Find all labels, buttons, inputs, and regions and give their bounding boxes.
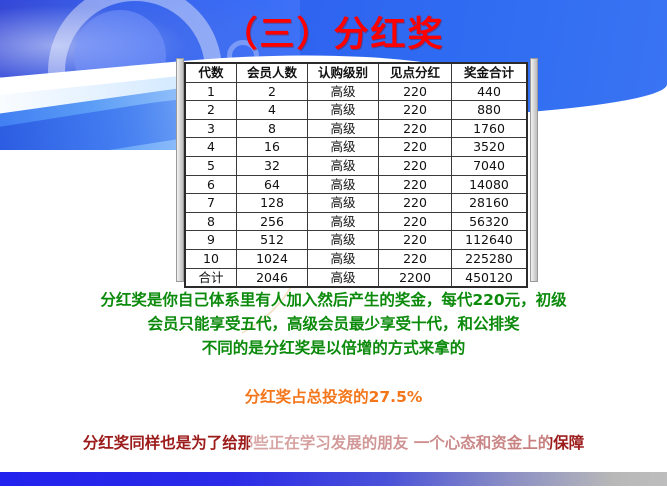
table-cell: 1024 — [237, 249, 308, 268]
green-line-2: 会员只能享受五代，高级会员最少享受十代，和公排奖 — [0, 312, 667, 336]
table-cell: 高级 — [308, 82, 379, 101]
table-row: 532高级2207040 — [185, 156, 527, 175]
table-cell: 220 — [379, 156, 452, 175]
table-header-cell: 见点分红 — [379, 63, 452, 82]
slide-canvas: （三）分红奖 代数会员人数认购级别见点分红奖金合计12高级22044024高级2… — [0, 0, 667, 500]
table-cell: 128 — [237, 194, 308, 213]
table-cell: 7 — [185, 194, 237, 213]
table-cell: 高级 — [308, 212, 379, 231]
table-cell: 220 — [379, 212, 452, 231]
bonus-table-container: 代数会员人数认购级别见点分红奖金合计12高级22044024高级22088038… — [184, 62, 528, 288]
table-cell: 220 — [379, 119, 452, 138]
table-header-cell: 代数 — [185, 63, 237, 82]
table-cell: 高级 — [308, 249, 379, 268]
table-cell: 112640 — [452, 231, 528, 250]
table-cell: 512 — [237, 231, 308, 250]
table-header-cell: 会员人数 — [237, 63, 308, 82]
page-title: （三）分红奖 — [0, 6, 667, 57]
table-header-cell: 认购级别 — [308, 63, 379, 82]
table-right-scrollbar[interactable] — [530, 58, 538, 282]
table-cell: 220 — [379, 249, 452, 268]
table-row: 8256高级22056320 — [185, 212, 527, 231]
table-cell: 16 — [237, 138, 308, 157]
table-cell: 2 — [185, 101, 237, 120]
table-cell: 高级 — [308, 101, 379, 120]
table-cell: 8 — [185, 212, 237, 231]
table-row: 7128高级22028160 — [185, 194, 527, 213]
table-cell: 高级 — [308, 194, 379, 213]
table-cell: 14080 — [452, 175, 528, 194]
table-cell: 4 — [185, 138, 237, 157]
green-paragraph: 分红奖是你自己体系里有人加入然后产生的奖金，每代220元，初级 会员只能享受五代… — [0, 288, 667, 360]
table-cell: 高级 — [308, 156, 379, 175]
table-body: 代数会员人数认购级别见点分红奖金合计12高级22044024高级22088038… — [185, 63, 527, 287]
table-cell: 220 — [379, 194, 452, 213]
table-cell: 256 — [237, 212, 308, 231]
table-cell: 220 — [379, 82, 452, 101]
green-line-3: 不同的是分红奖是以倍增的方式来拿的 — [0, 336, 667, 360]
table-cell: 440 — [452, 82, 528, 101]
table-cell: 56320 — [452, 212, 528, 231]
table-cell: 64 — [237, 175, 308, 194]
table-row: 38高级2201760 — [185, 119, 527, 138]
table-cell: 高级 — [308, 175, 379, 194]
table-cell: 220 — [379, 175, 452, 194]
table-cell: 2046 — [237, 268, 308, 287]
table-cell: 4 — [237, 101, 308, 120]
table-cell: 450120 — [452, 268, 528, 287]
table-header-row: 代数会员人数认购级别见点分红奖金合计 — [185, 63, 527, 82]
table-cell: 1760 — [452, 119, 528, 138]
table-row: 101024高级220225280 — [185, 249, 527, 268]
table-cell: 32 — [237, 156, 308, 175]
table-cell: 高级 — [308, 231, 379, 250]
table-cell: 220 — [379, 231, 452, 250]
table-row: 24高级220880 — [185, 101, 527, 120]
table-header-cell: 奖金合计 — [452, 63, 528, 82]
table-cell: 合计 — [185, 268, 237, 287]
green-line-1: 分红奖是你自己体系里有人加入然后产生的奖金，每代220元，初级 — [0, 288, 667, 312]
bonus-table: 代数会员人数认购级别见点分红奖金合计12高级22044024高级22088038… — [184, 62, 528, 288]
table-cell: 5 — [185, 156, 237, 175]
table-row: 9512高级220112640 — [185, 231, 527, 250]
footer-bar — [0, 472, 667, 486]
table-cell: 高级 — [308, 268, 379, 287]
table-row: 416高级2203520 — [185, 138, 527, 157]
table-cell: 1 — [185, 82, 237, 101]
table-row: 合计2046高级2200450120 — [185, 268, 527, 287]
table-cell: 3 — [185, 119, 237, 138]
table-cell: 9 — [185, 231, 237, 250]
table-cell: 880 — [452, 101, 528, 120]
red-footer-line: 分红奖同样也是为了给那些正在学习发展的朋友 一个心态和资金上的保障 — [0, 431, 667, 453]
table-cell: 225280 — [452, 249, 528, 268]
table-cell: 7040 — [452, 156, 528, 175]
table-cell: 3520 — [452, 138, 528, 157]
table-left-frame — [176, 58, 184, 282]
table-cell: 2200 — [379, 268, 452, 287]
table-cell: 220 — [379, 101, 452, 120]
orange-highlight-line: 分红奖占总投资的27.5% — [0, 385, 667, 407]
table-row: 664高级22014080 — [185, 175, 527, 194]
table-cell: 2 — [237, 82, 308, 101]
table-cell: 8 — [237, 119, 308, 138]
table-cell: 高级 — [308, 119, 379, 138]
table-cell: 10 — [185, 249, 237, 268]
table-cell: 高级 — [308, 138, 379, 157]
table-cell: 6 — [185, 175, 237, 194]
table-cell: 28160 — [452, 194, 528, 213]
table-row: 12高级220440 — [185, 82, 527, 101]
table-cell: 220 — [379, 138, 452, 157]
